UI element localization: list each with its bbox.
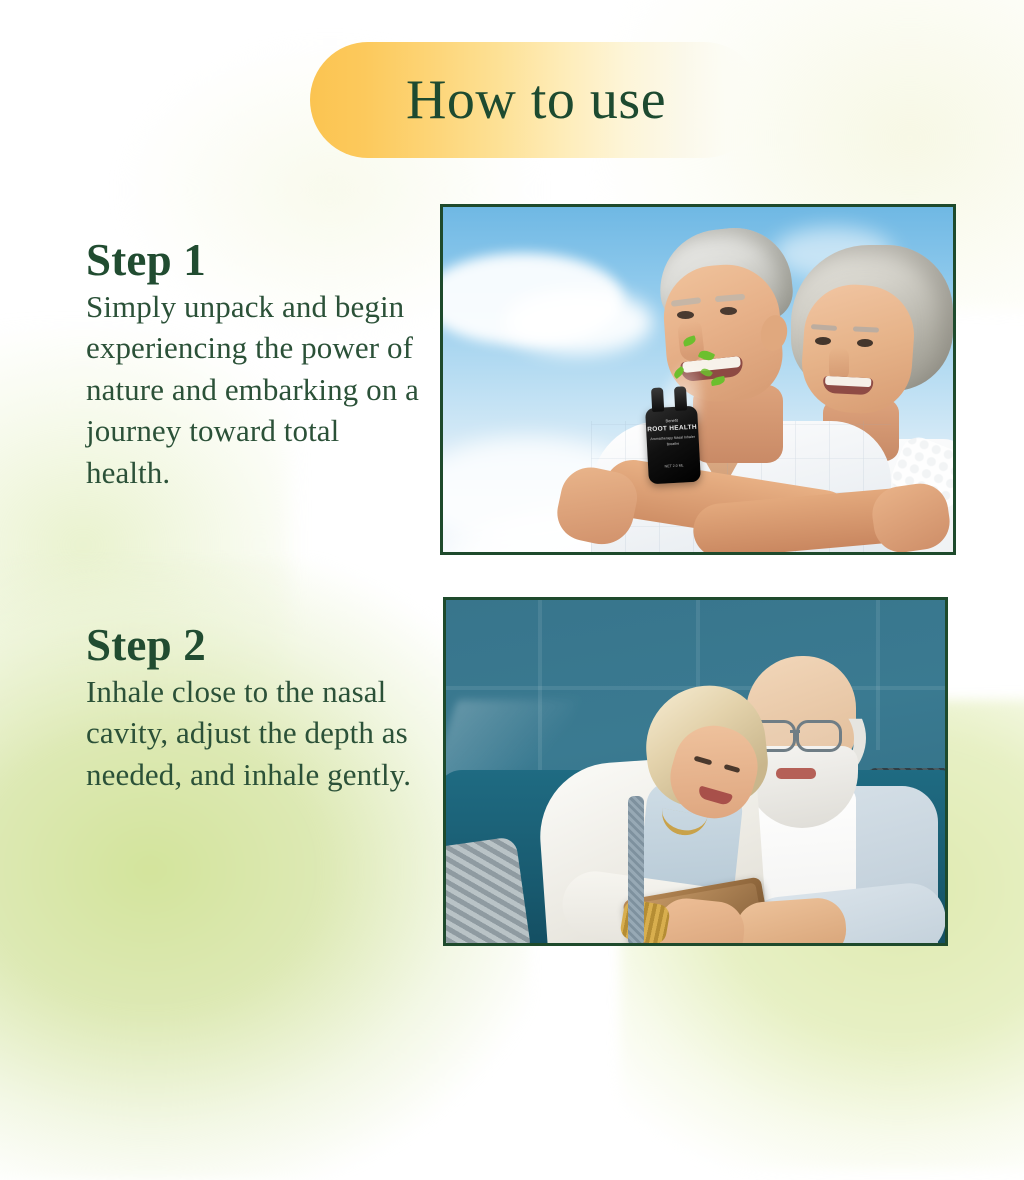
woman-face — [799, 281, 918, 416]
woman2-gold-bangle — [619, 898, 671, 943]
man2-eyeglasses-right-lens — [796, 720, 842, 752]
step-1-body: Simply unpack and begin experiencing the… — [86, 286, 426, 494]
step-1-heading: Step 1 — [86, 238, 426, 284]
man-eye — [677, 311, 694, 319]
wall-panel-line — [876, 600, 880, 750]
man2-mouth — [776, 768, 816, 779]
photo-1-content: Benefit ROOT HEALTH Aromatherapy Nasal I… — [443, 207, 953, 552]
man2-shirt-placket — [628, 796, 644, 943]
step-1-block: Step 1 Simply unpack and begin experienc… — [86, 238, 426, 494]
woman-eye — [815, 337, 831, 345]
photo-senior-couple-outdoors: Benefit ROOT HEALTH Aromatherapy Nasal I… — [440, 204, 956, 555]
step-2-heading: Step 2 — [86, 623, 426, 669]
step-2-block: Step 2 Inhale close to the nasal cavity,… — [86, 623, 426, 795]
product-nasal-inhaler: Benefit ROOT HEALTH Aromatherapy Nasal I… — [645, 406, 701, 485]
photo-senior-couple-indoors — [443, 597, 948, 946]
product-subtitle-2: Breathe — [647, 442, 699, 448]
cloud-icon — [503, 289, 653, 355]
man-eye — [720, 307, 737, 315]
product-name: ROOT HEALTH — [646, 425, 698, 434]
photo-2-content — [446, 600, 945, 943]
inhaler-nozzle-left — [651, 387, 664, 412]
step-2-body: Inhale close to the nasal cavity, adjust… — [86, 671, 426, 796]
steps-column: Step 1 Simply unpack and begin experienc… — [86, 0, 436, 1024]
man2-eyeglasses-bridge — [790, 730, 800, 733]
woman-eye — [857, 339, 873, 347]
inhaler-nozzle-right — [674, 386, 687, 411]
woman-mouth — [823, 376, 874, 396]
product-volume: NET 2.0 ML — [648, 464, 700, 470]
